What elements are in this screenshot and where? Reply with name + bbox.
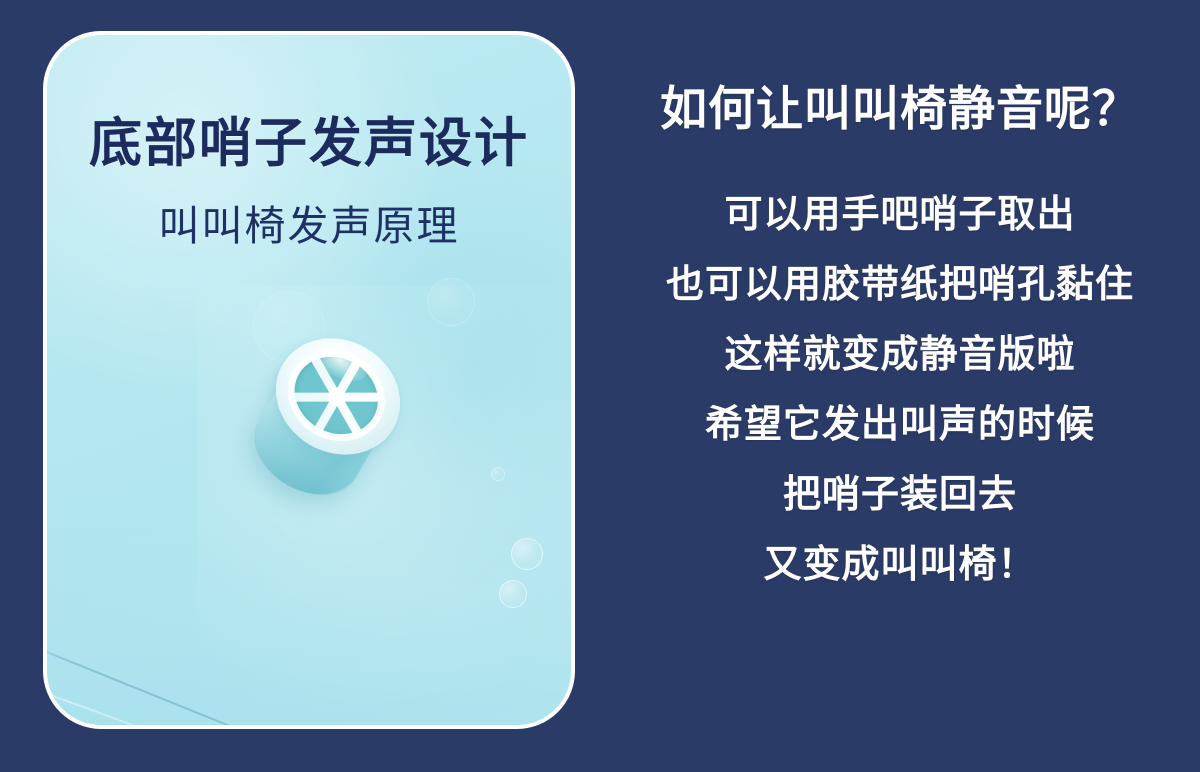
bubble-icon (491, 467, 505, 481)
grille-spoke (291, 392, 383, 401)
instruction-line: 希望它发出叫声的时候 (600, 390, 1200, 460)
instructions-panel: 如何让叫叫椅静音呢？ 可以用手吧哨子取出 也可以用胶带纸把哨孔黏住 这样就变成静… (600, 0, 1200, 772)
whistle-body (239, 334, 407, 513)
chair-seam-highlight (43, 671, 269, 729)
bubble-icon (499, 580, 527, 608)
whistle-body-shading (239, 382, 379, 512)
grille-hub (324, 385, 349, 410)
instruction-line: 也可以用胶带纸把哨孔黏住 (600, 250, 1200, 320)
grille-spoke (310, 355, 364, 439)
photo-highlight-center (197, 285, 575, 715)
photo-shadow-bottom (47, 495, 571, 725)
whistle-grille-icon (278, 341, 395, 454)
card-subtitle: 叫叫椅发声原理 (47, 201, 571, 251)
instructions-body: 可以用手吧哨子取出 也可以用胶带纸把哨孔黏住 这样就变成静音版啦 希望它发出叫声… (600, 180, 1200, 600)
instructions-heading: 如何让叫叫椅静音呢？ (600, 80, 1200, 138)
product-photo-card: 底部哨子发声设计 叫叫椅发声原理 (43, 31, 575, 729)
whistle-grille-ring (271, 332, 402, 458)
instruction-line: 把哨子装回去 (600, 460, 1200, 530)
bubble-icon (511, 538, 543, 570)
product-detail-page: 底部哨子发声设计 叫叫椅发声原理 如何让叫叫椅静音呢？ 可以用手吧哨子取出 也可… (0, 0, 1200, 772)
whistle-cap (255, 316, 422, 477)
whistle-nub (212, 305, 438, 532)
chair-seam-line (43, 635, 406, 729)
instruction-line: 可以用手吧哨子取出 (600, 180, 1200, 250)
bubble-icon (427, 278, 475, 326)
card-title: 底部哨子发声设计 (47, 113, 571, 175)
grille-spoke (310, 355, 364, 439)
whistle-cap-gloss (304, 329, 375, 389)
instruction-line: 这样就变成静音版啦 (600, 320, 1200, 390)
bubble-icon (253, 291, 325, 363)
instruction-line: 又变成叫叫椅！ (600, 530, 1200, 600)
